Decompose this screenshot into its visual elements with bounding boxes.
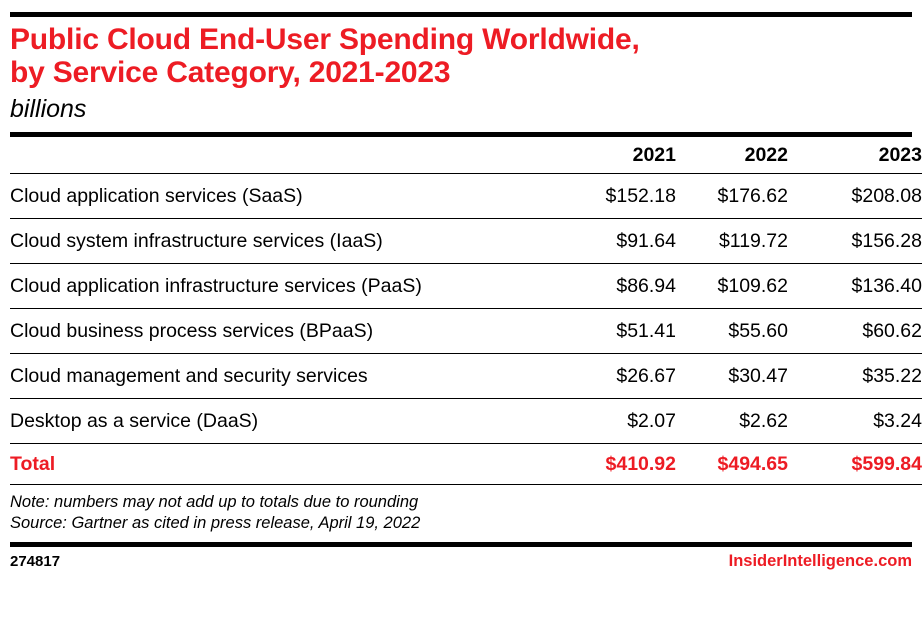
notes-block: Note: numbers may not add up to totals d… [10, 492, 912, 534]
note-text: Note: numbers may not add up to totals d… [10, 492, 912, 513]
table-row: Cloud application infrastructure service… [10, 264, 922, 309]
row-value-2021: $51.41 [566, 309, 678, 354]
row-value-2022: $119.72 [678, 219, 790, 264]
row-label: Cloud management and security services [10, 354, 566, 399]
total-value-2021: $410.92 [566, 444, 678, 485]
row-value-2023: $35.22 [790, 354, 922, 399]
row-value-2023: $136.40 [790, 264, 922, 309]
footer: 274817 InsiderIntelligence.com [10, 552, 912, 571]
chart-id: 274817 [10, 553, 60, 570]
column-header-2022: 2022 [678, 137, 790, 174]
row-value-2023: $208.08 [790, 174, 922, 219]
column-header-label [10, 137, 566, 174]
row-value-2022: $2.62 [678, 399, 790, 444]
row-label: Cloud application services (SaaS) [10, 174, 566, 219]
top-rule-container [10, 0, 912, 17]
row-value-2022: $109.62 [678, 264, 790, 309]
table-row: Cloud application services (SaaS) $152.1… [10, 174, 922, 219]
brand-link[interactable]: InsiderIntelligence.com [729, 552, 912, 571]
row-value-2023: $3.24 [790, 399, 922, 444]
row-value-2021: $2.07 [566, 399, 678, 444]
row-value-2021: $152.18 [566, 174, 678, 219]
total-value-2022: $494.65 [678, 444, 790, 485]
source-text: Source: Gartner as cited in press releas… [10, 513, 912, 534]
row-value-2022: $55.60 [678, 309, 790, 354]
total-label: Total [10, 444, 566, 485]
row-value-2021: $86.94 [566, 264, 678, 309]
table-total-row: Total $410.92 $494.65 $599.84 [10, 444, 922, 485]
row-label: Cloud system infrastructure services (Ia… [10, 219, 566, 264]
table-header-row: 2021 2022 2023 [10, 137, 922, 174]
chart-card: Public Cloud End-User Spending Worldwide… [0, 0, 922, 617]
data-table: 2021 2022 2023 Cloud application service… [10, 137, 922, 485]
table-row: Cloud business process services (BPaaS) … [10, 309, 922, 354]
footer-rule [10, 542, 912, 547]
top-rule [10, 12, 912, 17]
total-value-2023: $599.84 [790, 444, 922, 485]
page-title: Public Cloud End-User Spending Worldwide… [10, 23, 912, 89]
page-subtitle: billions [10, 95, 912, 123]
row-value-2023: $156.28 [790, 219, 922, 264]
column-header-2023: 2023 [790, 137, 922, 174]
row-label: Cloud application infrastructure service… [10, 264, 566, 309]
row-value-2022: $30.47 [678, 354, 790, 399]
row-label: Desktop as a service (DaaS) [10, 399, 566, 444]
row-value-2021: $26.67 [566, 354, 678, 399]
table-row: Desktop as a service (DaaS) $2.07 $2.62 … [10, 399, 922, 444]
row-value-2021: $91.64 [566, 219, 678, 264]
table-row: Cloud management and security services $… [10, 354, 922, 399]
row-value-2022: $176.62 [678, 174, 790, 219]
footer-rule-container [10, 542, 912, 547]
column-header-2021: 2021 [566, 137, 678, 174]
row-label: Cloud business process services (BPaaS) [10, 309, 566, 354]
row-value-2023: $60.62 [790, 309, 922, 354]
table-row: Cloud system infrastructure services (Ia… [10, 219, 922, 264]
